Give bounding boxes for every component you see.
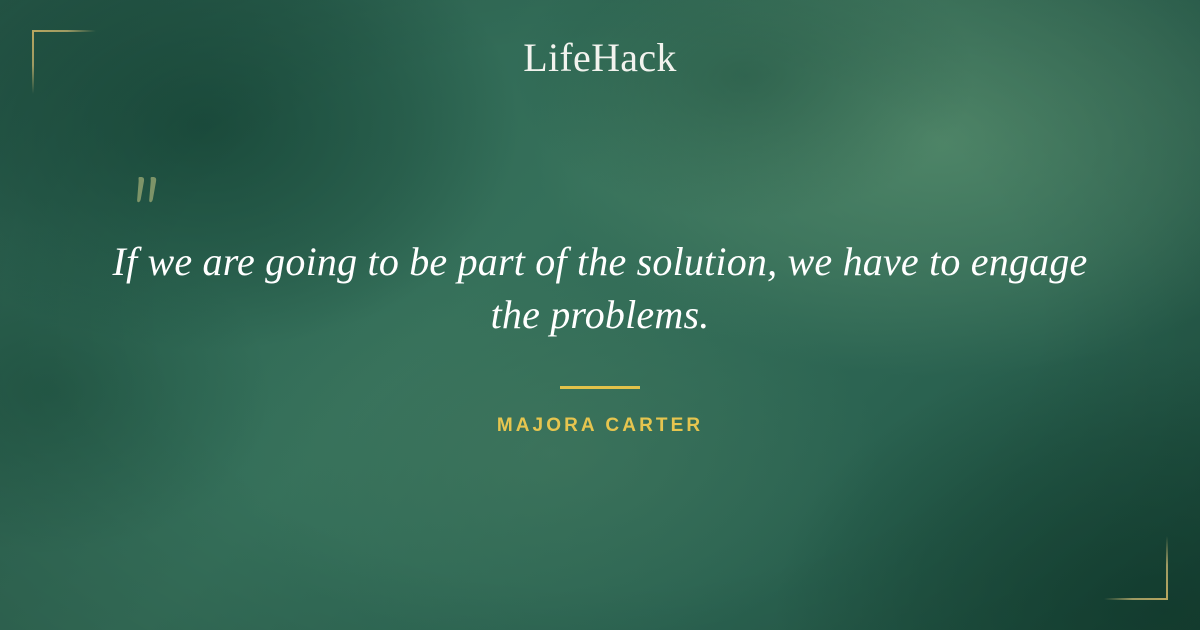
corner-bracket-horizontal bbox=[32, 30, 96, 32]
double-quote-icon bbox=[131, 173, 175, 217]
divider-rule bbox=[560, 386, 640, 389]
corner-bracket-bottom-right-icon bbox=[1104, 536, 1168, 600]
quote-line-1: If we are going to be part of the soluti… bbox=[112, 239, 1087, 284]
quote-card: LifeHack If we are going to be part of t… bbox=[0, 0, 1200, 630]
quote-text: If we are going to be part of the soluti… bbox=[90, 236, 1110, 342]
quote-block: If we are going to be part of the soluti… bbox=[0, 236, 1200, 437]
corner-bracket-vertical bbox=[1166, 536, 1168, 600]
quote-author: MAJORA CARTER bbox=[0, 415, 1200, 437]
brand-logo: LifeHack bbox=[0, 38, 1200, 78]
corner-bracket-horizontal bbox=[1104, 598, 1168, 600]
quote-line-2: the problems. bbox=[491, 292, 710, 337]
